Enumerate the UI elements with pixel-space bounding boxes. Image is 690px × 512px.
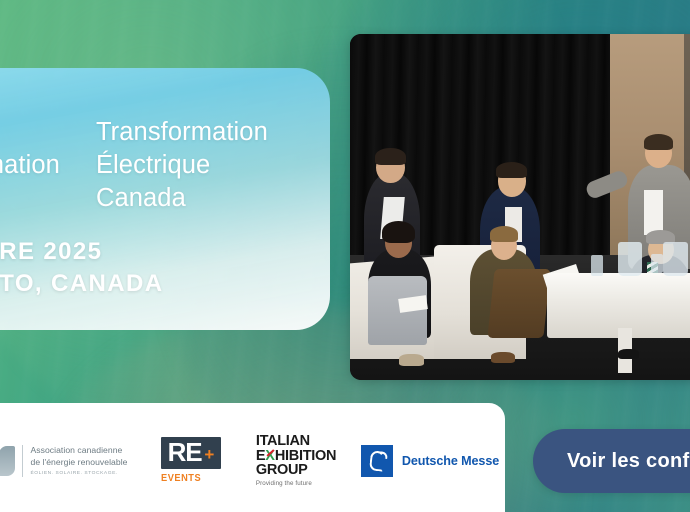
ieg-line-3: GROUP xyxy=(256,463,336,478)
photo-water-pitcher-a xyxy=(618,242,643,277)
photo-glass-a xyxy=(591,255,604,276)
photo-glass-b xyxy=(651,254,663,273)
photo-hair-speaker xyxy=(644,134,673,149)
deutsche-messe-label: Deutsche Messe xyxy=(402,454,499,468)
logo-re-plus-events[interactable]: RE + EVENTS xyxy=(145,403,237,512)
re-plus-events-label: EVENTS xyxy=(161,472,201,484)
view-speakers-button[interactable]: Voir les conférenciers xyxy=(533,429,690,493)
deutsche-messe-glyph xyxy=(369,450,385,471)
photo-hair-brown-jacket xyxy=(490,226,518,241)
logo-italian-exhibition-group[interactable]: ITALIAN E X HIBITION GROUP Providing the… xyxy=(237,403,355,512)
ieg-tagline: Providing the future xyxy=(256,481,336,487)
photo-shoe-c xyxy=(618,349,639,359)
headline-english: Electricity Transformation Canada xyxy=(0,116,60,215)
re-plus-mark: RE + xyxy=(161,437,222,470)
photo-hair-front-left xyxy=(382,221,414,243)
event-date-location: OCTOBRE 2025 TORONTO, CANADA xyxy=(0,236,163,299)
re-plus-letters: RE xyxy=(168,441,202,465)
photo-water-pitcher-b xyxy=(663,242,688,277)
ieg-line-2: E X HIBITION xyxy=(256,449,336,464)
re-plus-sign: + xyxy=(204,448,214,462)
ieg-line-1: ITALIAN xyxy=(256,434,336,449)
deutsche-messe-icon xyxy=(361,445,393,477)
photo-hair-left xyxy=(375,148,405,165)
sponsor-logo-card: Association canadienne de l'énergie reno… xyxy=(0,403,505,512)
canrea-tagline: ÉOLIEN. SOLAIRE. STOCKAGE. xyxy=(30,471,127,476)
ieg-x-icon: X xyxy=(265,449,275,464)
event-promo-banner: Electricity Transformation Canada Transf… xyxy=(0,0,690,512)
headline-group: Electricity Transformation Canada Transf… xyxy=(0,116,268,215)
photo-trousers-brown-jacket xyxy=(487,269,551,338)
canrea-line-2: de l'énergie renouvelable xyxy=(30,457,127,469)
photo-shirt-speaker xyxy=(644,190,663,235)
ieg-line-2-post: HIBITION xyxy=(275,449,336,464)
logo-deutsche-messe[interactable]: Deutsche Messe xyxy=(355,403,505,512)
photo-trousers-front-left xyxy=(368,276,428,345)
photo-hair-center xyxy=(496,162,527,178)
panel-discussion-photo xyxy=(350,34,690,380)
canrea-divider xyxy=(22,445,23,477)
canrea-leaf-icon xyxy=(0,446,15,476)
headline-french: Transformation Électrique Canada xyxy=(96,116,268,215)
photo-shoe-b xyxy=(491,352,516,363)
photo-shoe-a xyxy=(399,354,424,366)
canrea-line-1: Association canadienne xyxy=(30,445,127,457)
ieg-line-2-pre: E xyxy=(256,449,265,464)
logo-canrea[interactable]: Association canadienne de l'énergie reno… xyxy=(0,403,145,512)
